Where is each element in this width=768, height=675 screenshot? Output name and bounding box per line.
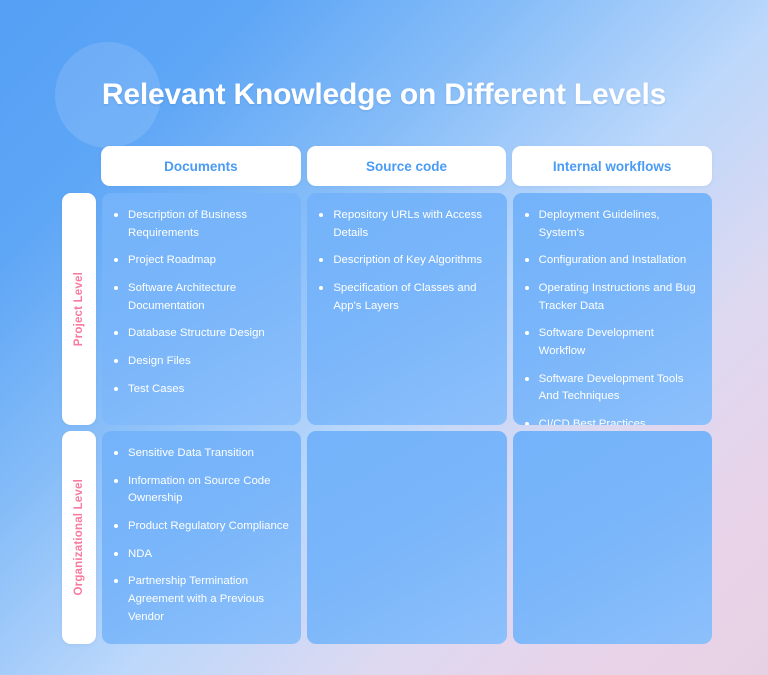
column-header-label: Source code	[366, 159, 447, 174]
column-header-documents[interactable]: Documents	[101, 146, 301, 186]
row-label-text: Organizational Level	[73, 479, 85, 595]
item-list: Sensitive Data TransitionInformation on …	[112, 445, 289, 626]
list-item: Partnership Termination Agreement with a…	[112, 573, 289, 626]
row-cells: Sensitive Data TransitionInformation on …	[102, 431, 712, 644]
column-header-label: Documents	[164, 159, 238, 174]
cell-organizational-documents[interactable]: Sensitive Data TransitionInformation on …	[102, 431, 301, 644]
list-item: Operating Instructions and Bug Tracker D…	[523, 280, 700, 315]
list-item: CI/CD Best Practices	[523, 416, 700, 425]
matrix-row-organizational-level: Organizational Level Sensitive Data Tran…	[62, 431, 712, 644]
list-item: Repository URLs with Access Details	[317, 207, 494, 242]
row-label-organizational-level[interactable]: Organizational Level	[62, 431, 96, 644]
list-item: Description of Key Algorithms	[317, 252, 494, 270]
cell-project-internal-workflows[interactable]: Deployment Guidelines, System'sConfigura…	[513, 193, 712, 425]
list-item: Test Cases	[112, 381, 289, 399]
item-list: Deployment Guidelines, System'sConfigura…	[523, 207, 700, 425]
knowledge-matrix: Documents Source code Internal workflows…	[62, 146, 712, 644]
list-item: Software Development Tools And Technique…	[523, 371, 700, 406]
matrix-row-project-level: Project Level Description of Business Re…	[62, 193, 712, 425]
item-list: Description of Business RequirementsProj…	[112, 207, 289, 398]
list-item: Product Regulatory Compliance	[112, 518, 289, 536]
column-header-row: Documents Source code Internal workflows	[101, 146, 712, 186]
list-item: NDA	[112, 546, 289, 564]
cell-organizational-internal-workflows[interactable]	[513, 431, 712, 644]
list-item: Design Files	[112, 353, 289, 371]
cell-project-documents[interactable]: Description of Business RequirementsProj…	[102, 193, 301, 425]
page-title: Relevant Knowledge on Different Levels	[0, 78, 768, 112]
column-header-internal-workflows[interactable]: Internal workflows	[512, 146, 712, 186]
list-item: Database Structure Design	[112, 325, 289, 343]
list-item: Software Architecture Documentation	[112, 280, 289, 315]
column-header-label: Internal workflows	[553, 159, 672, 174]
column-header-source-code[interactable]: Source code	[307, 146, 507, 186]
list-item: Specification of Classes and App's Layer…	[317, 280, 494, 315]
list-item: Description of Business Requirements	[112, 207, 289, 242]
cell-organizational-source-code[interactable]	[307, 431, 506, 644]
list-item: Project Roadmap	[112, 252, 289, 270]
row-label-text: Project Level	[73, 272, 85, 346]
row-label-project-level[interactable]: Project Level	[62, 193, 96, 425]
item-list: Repository URLs with Access DetailsDescr…	[317, 207, 494, 315]
cell-project-source-code[interactable]: Repository URLs with Access DetailsDescr…	[307, 193, 506, 425]
list-item: Configuration and Installation	[523, 252, 700, 270]
list-item: Deployment Guidelines, System's	[523, 207, 700, 242]
list-item: Sensitive Data Transition	[112, 445, 289, 463]
row-cells: Description of Business RequirementsProj…	[102, 193, 712, 425]
matrix-body: Project Level Description of Business Re…	[62, 193, 712, 644]
list-item: Software Development Workflow	[523, 325, 700, 360]
list-item: Information on Source Code Ownership	[112, 473, 289, 508]
